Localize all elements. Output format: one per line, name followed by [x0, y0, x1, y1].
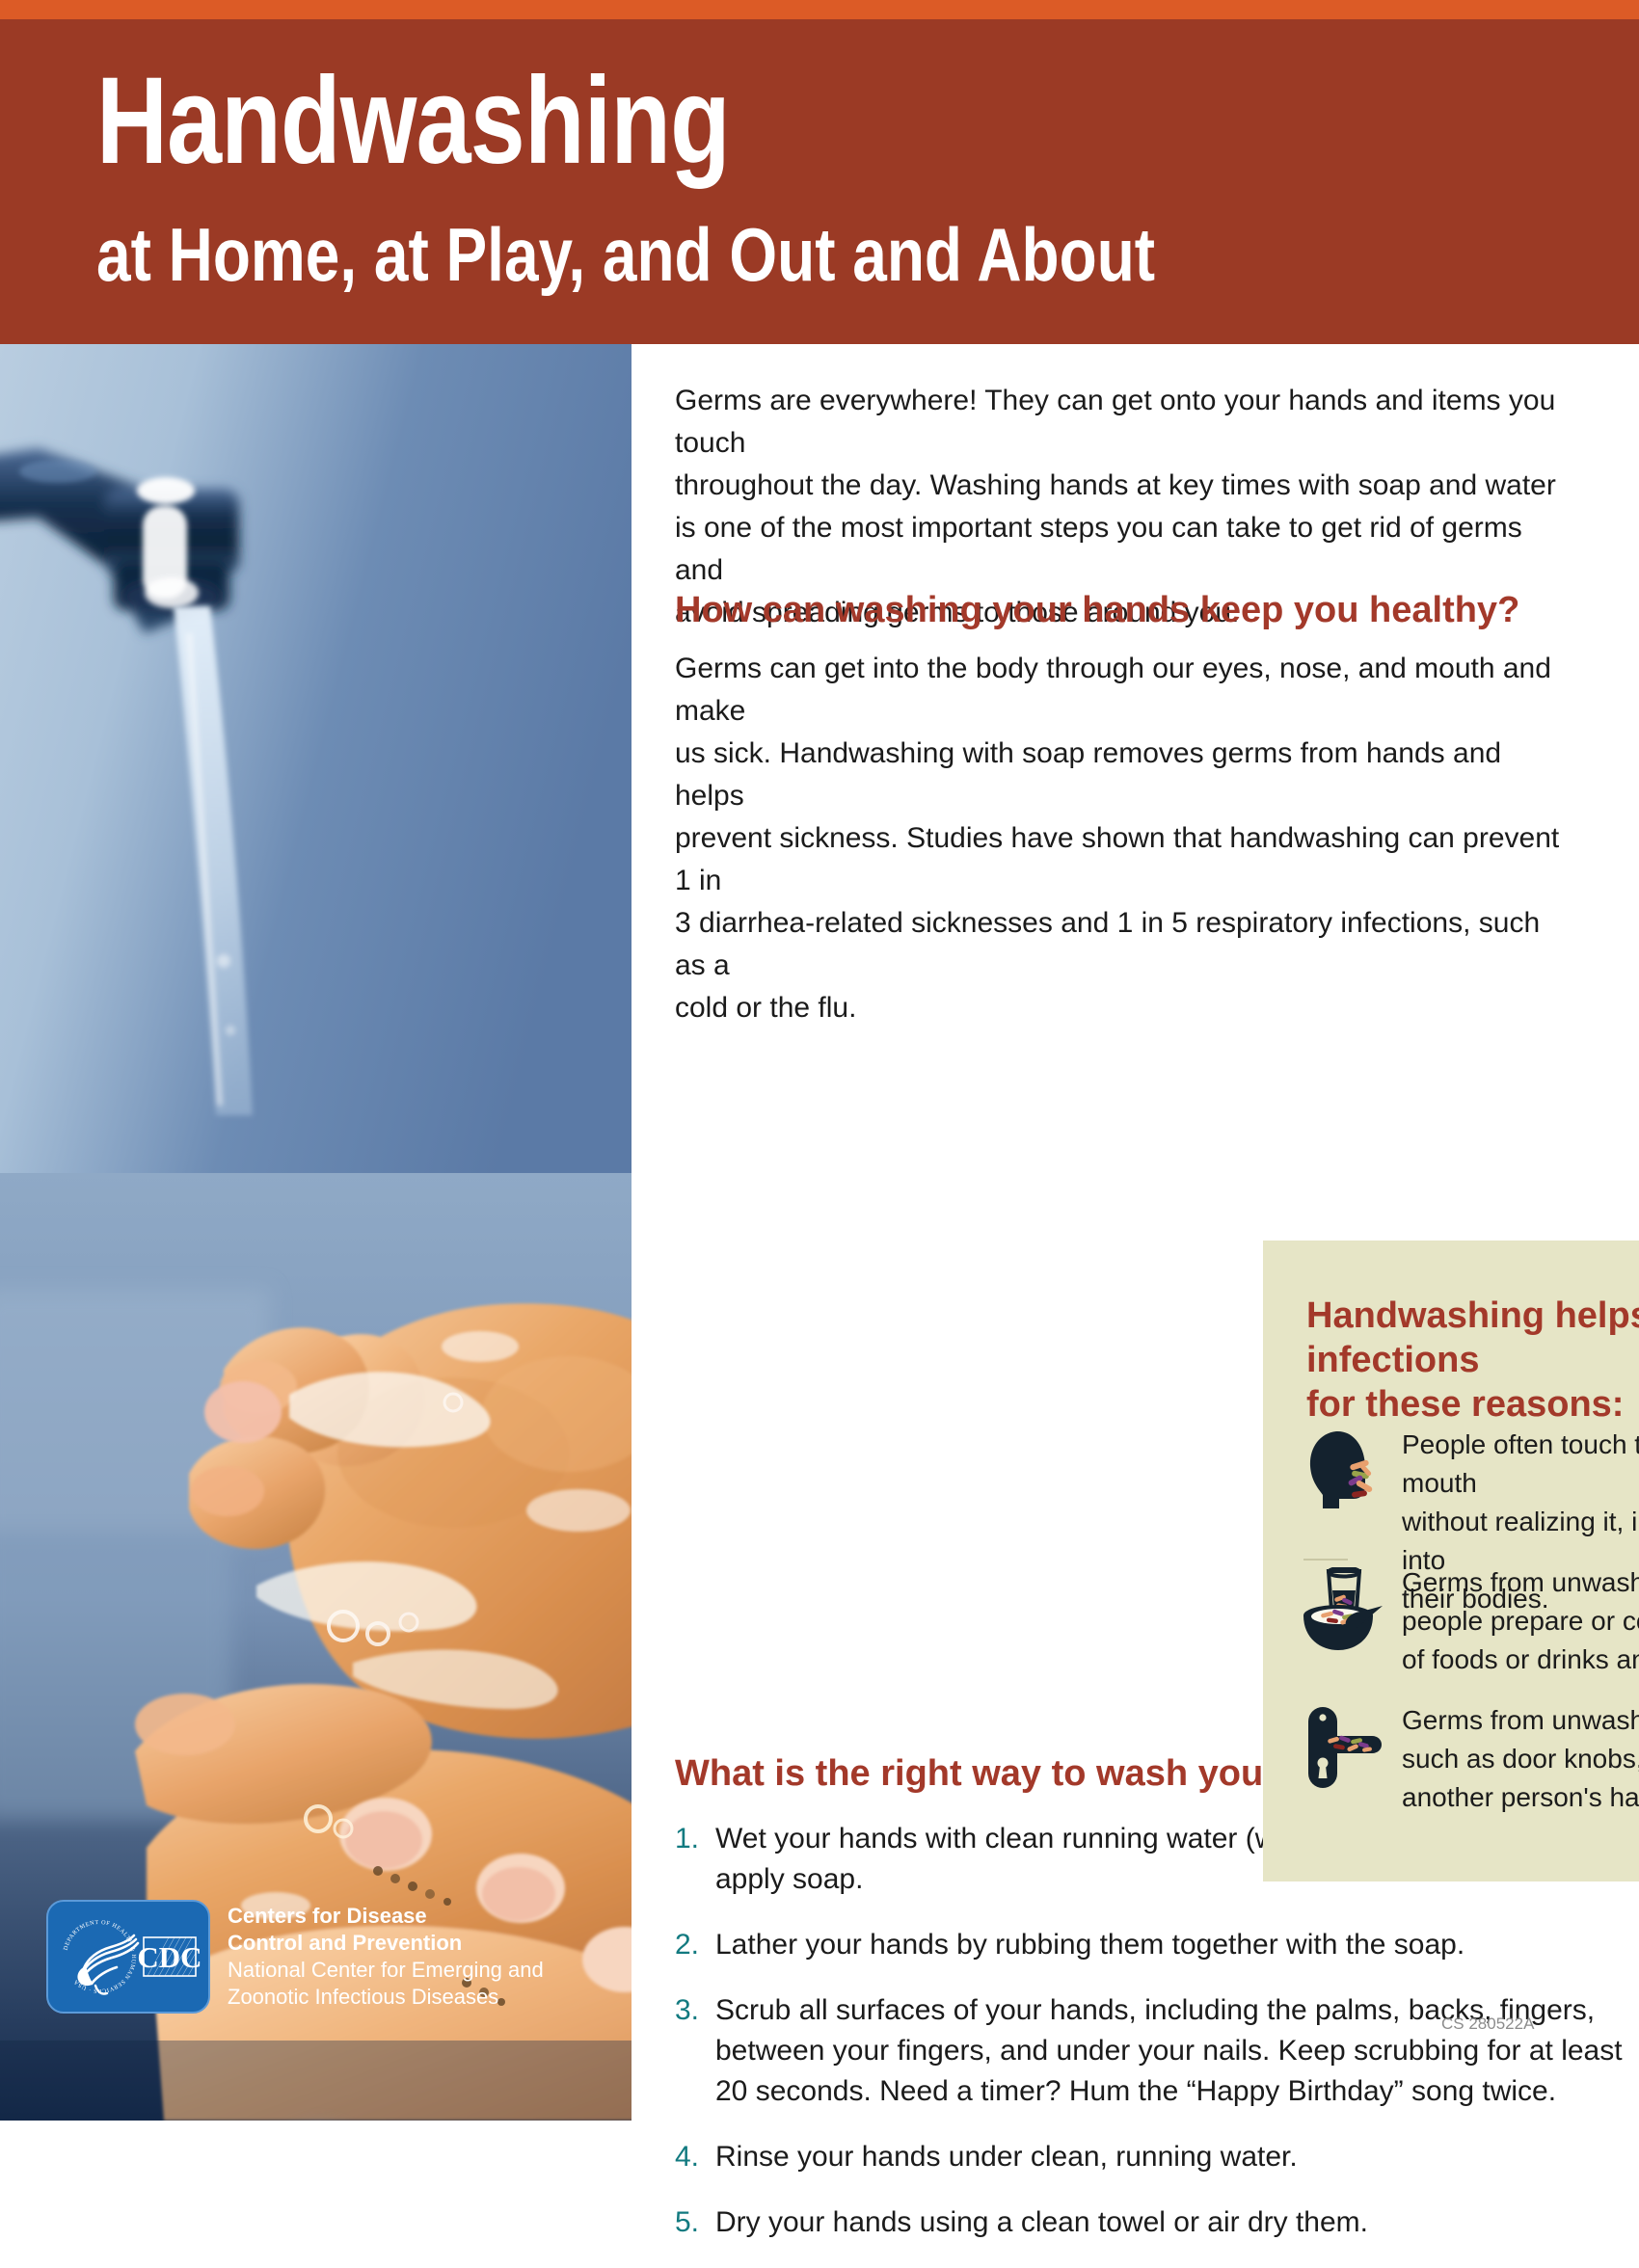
intro-line: Germs are everywhere! They can get onto … [675, 380, 1572, 465]
body-line: cold or the flu. [675, 987, 1572, 1029]
intro-line: throughout the day. Washing hands at key… [675, 465, 1572, 507]
step-text: Scrub all surfaces of your hands, includ… [715, 1990, 1623, 2112]
reason-line: another person's hands. [1402, 1778, 1639, 1817]
reason-line: Germs from unwashed hands may get into f… [1402, 1563, 1639, 1602]
step-number: 5. [675, 2202, 715, 2243]
howto-steps-list: 1. Wet your hands with clean running wat… [675, 1819, 1629, 2268]
cdc-line-1: Centers for Disease [228, 1903, 544, 1930]
reason-line: People often touch their eyes, nose, and… [1402, 1426, 1639, 1503]
reason-line: such as door knobs, tables, or toys, and… [1402, 1740, 1639, 1778]
step-text: Lather your hands by rubbing them togeth… [715, 1925, 1464, 1965]
reason-line: people prepare or consume them. Germs ca… [1402, 1602, 1639, 1641]
publication-code: CS 280522A [1441, 2015, 1534, 2034]
page-subtitle: at Home, at Play, and Out and About [96, 217, 1155, 292]
list-item: 4. Rinse your hands under clean, running… [675, 2137, 1629, 2177]
head-silhouette-icon [1297, 1426, 1388, 1512]
body-line: Germs can get into the body through our … [675, 648, 1572, 733]
reason-item: Germs from unwashed hands may get into f… [1297, 1563, 1639, 1679]
reasons-panel: Handwashing helps prevent infections for… [1263, 1241, 1639, 1881]
reason-line: of foods or drinks and make people sick. [1402, 1641, 1639, 1679]
step-number: 2. [675, 1925, 715, 1965]
bowl-and-glass-icon [1297, 1563, 1388, 1654]
body-line: prevent sickness. Studies have shown tha… [675, 817, 1572, 902]
step-number: 3. [675, 1990, 715, 2112]
body-line: us sick. Handwashing with soap removes g… [675, 733, 1572, 817]
cdc-wordmark: CDC [137, 1940, 202, 1974]
reason-text: Germs from unwashed hands may get into f… [1388, 1563, 1639, 1679]
step-line: Rinse your hands under clean, running wa… [715, 2137, 1298, 2177]
list-item: 5. Dry your hands using a clean towel or… [675, 2202, 1629, 2243]
reasons-heading-line1: Handwashing helps prevent infections [1306, 1294, 1639, 1382]
cdc-line-4: Zoonotic Infectious Diseases [228, 1984, 544, 2011]
reason-item: Germs from unwashed hands can be transfe… [1297, 1701, 1639, 1817]
top-accent-strip [0, 0, 1639, 19]
section-heading-reasons: Handwashing helps prevent infections for… [1306, 1294, 1639, 1427]
step-text: Dry your hands using a clean towel or ai… [715, 2202, 1368, 2243]
section-body-healthy: Germs can get into the body through our … [675, 648, 1572, 1029]
cdc-line-2: Control and Prevention [228, 1930, 544, 1957]
section-heading-healthy: How can washing your hands keep you heal… [675, 590, 1572, 632]
intro-line: is one of the most important steps you c… [675, 507, 1572, 592]
cdc-badge: DEPARTMENT OF HEALTH & HUMAN SERVICES · … [46, 1900, 210, 2014]
step-line: 20 seconds. Need a timer? Hum the “Happy… [715, 2071, 1623, 2112]
step-text: Rinse your hands under clean, running wa… [715, 2137, 1298, 2177]
main-content: Germs are everywhere! They can get onto … [631, 344, 1639, 2121]
door-handle-icon [1297, 1701, 1388, 1790]
step-number: 1. [675, 1819, 715, 1900]
reason-line: Germs from unwashed hands can be transfe… [1402, 1701, 1639, 1740]
step-number: 4. [675, 2137, 715, 2177]
step-line: between your fingers, and under your nai… [715, 2031, 1623, 2071]
page-title: Handwashing [96, 60, 730, 183]
body-line: 3 diarrhea-related sicknesses and 1 in 5… [675, 902, 1572, 987]
reasons-heading-line2: for these reasons: [1306, 1382, 1639, 1427]
page-header: Handwashing at Home, at Play, and Out an… [0, 19, 1639, 344]
step-line: Dry your hands using a clean towel or ai… [715, 2202, 1368, 2243]
step-line: Lather your hands by rubbing them togeth… [715, 1925, 1464, 1965]
cdc-line-3: National Center for Emerging and [228, 1957, 544, 1984]
cdc-agency-text: Centers for Disease Control and Preventi… [210, 1903, 544, 2011]
reason-text: Germs from unwashed hands can be transfe… [1388, 1701, 1639, 1817]
handwashing-photo [0, 344, 631, 2121]
list-item: 3. Scrub all surfaces of your hands, inc… [675, 1990, 1629, 2112]
list-item: 2. Lather your hands by rubbing them tog… [675, 1925, 1629, 1965]
cdc-logo-block: DEPARTMENT OF HEALTH & HUMAN SERVICES · … [46, 1880, 586, 2034]
